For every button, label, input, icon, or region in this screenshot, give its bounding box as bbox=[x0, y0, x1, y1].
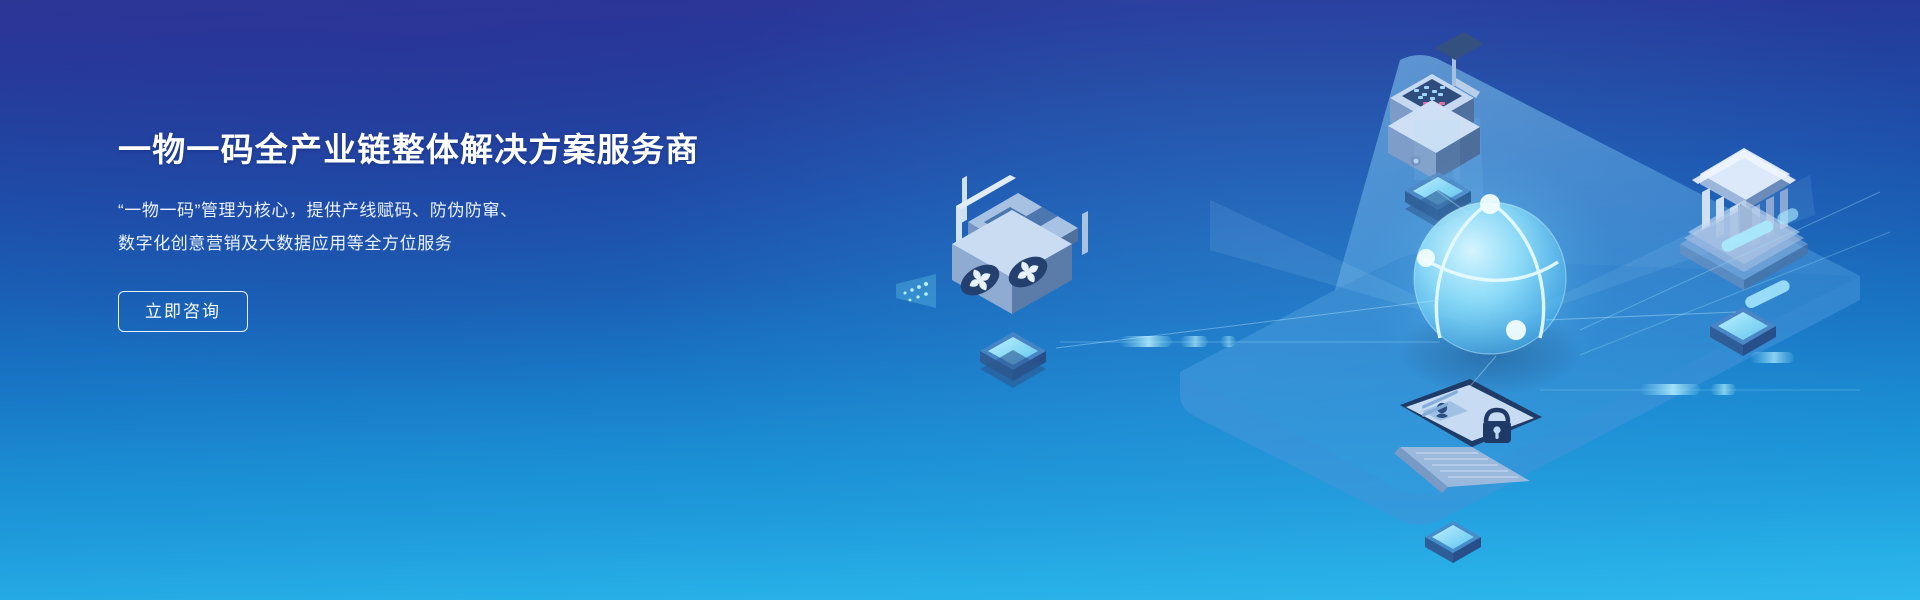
rack-pedestal bbox=[980, 332, 1046, 388]
server-fan-rack-icon bbox=[952, 175, 1088, 314]
hero-subtitle-line-2: 数字化创意营销及大数据应用等全方位服务 bbox=[118, 227, 838, 260]
scan-beam-icon bbox=[896, 274, 936, 308]
isometric-iot-illustration bbox=[880, 0, 1920, 600]
page-title: 一物一码全产业链整体解决方案服务商 bbox=[118, 128, 838, 172]
hero-banner: 一物一码全产业链整体解决方案服务商 “一物一码”管理为核心，提供产线赋码、防伪防… bbox=[0, 0, 1920, 600]
laptop-pedestal bbox=[1425, 521, 1481, 563]
hero-subtitle-line-1: “一物一码”管理为核心，提供产线赋码、防伪防窜、 bbox=[118, 194, 838, 227]
consult-now-button[interactable]: 立即咨询 bbox=[118, 291, 248, 332]
hero-copy-block: 一物一码全产业链整体解决方案服务商 “一物一码”管理为核心，提供产线赋码、防伪防… bbox=[118, 128, 838, 332]
hero-subtitle: “一物一码”管理为核心，提供产线赋码、防伪防窜、 数字化创意营销及大数据应用等全… bbox=[118, 194, 838, 260]
network-sphere-icon bbox=[1364, 152, 1616, 404]
